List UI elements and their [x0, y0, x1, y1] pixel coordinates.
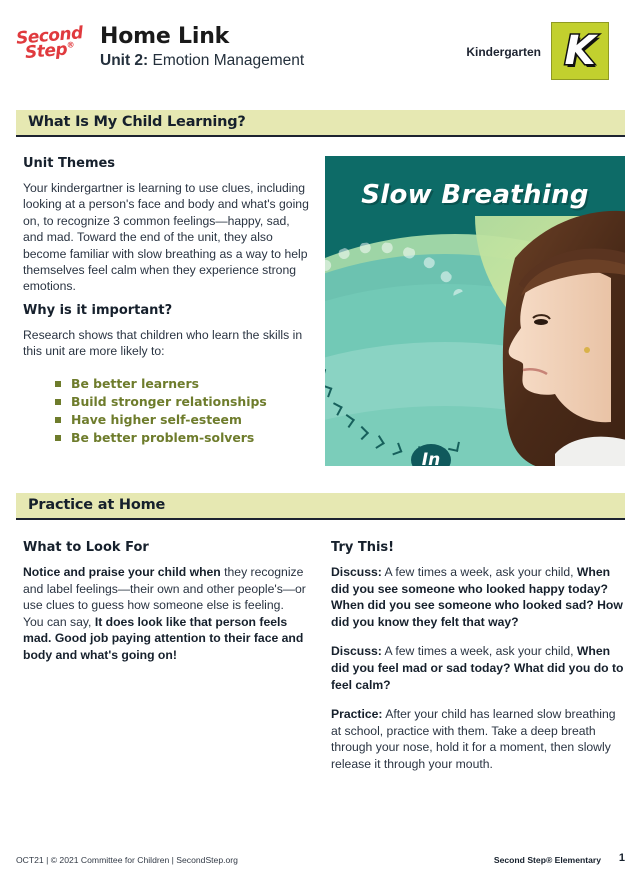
why-important-heading: Why is it important? — [23, 303, 313, 318]
unit-name: Emotion Management — [148, 52, 304, 69]
footer-page-number: 1 — [619, 852, 625, 864]
page-subtitle: Unit 2: Emotion Management — [100, 52, 304, 70]
list-item: Be better learners — [55, 375, 267, 393]
logo-word-step: Step® — [24, 39, 75, 63]
chevron-in-icon — [448, 440, 460, 452]
grade-badge-letter: K — [552, 28, 608, 74]
page-header: Second Step® Home Link Unit 2: Emotion M… — [0, 0, 641, 100]
item-label: Practice: — [331, 707, 383, 721]
unit-themes-body: Your kindergartner is learning to use cl… — [23, 180, 313, 295]
what-to-look-for-heading: What to Look For — [23, 540, 307, 555]
look-for-bold-lead: Notice and praise your child when — [23, 565, 221, 579]
list-item: Be better problem-solvers — [55, 429, 267, 447]
item-label: Discuss: — [331, 644, 382, 658]
unit-themes-block: Unit Themes Your kindergartner is learni… — [23, 156, 313, 295]
item-label: Discuss: — [331, 565, 382, 579]
second-step-logo: Second Step® — [16, 26, 82, 66]
grade-label: Kindergarten — [466, 45, 541, 59]
list-item: Have higher self-esteem — [55, 411, 267, 429]
grade-badge: K — [551, 22, 609, 80]
slow-breathing-illustration: Slow Breathing In Out — [325, 156, 625, 466]
try-this-heading: Try This! — [331, 540, 627, 555]
footer-copyright: OCT21 | © 2021 Committee for Children | … — [16, 855, 238, 865]
unit-themes-heading: Unit Themes — [23, 156, 313, 171]
list-item: Build stronger relationships — [55, 393, 267, 411]
item-plain: A few times a week, ask your child, — [382, 644, 577, 658]
try-this-item: Practice: After your child has learned s… — [331, 706, 627, 772]
item-plain: A few times a week, ask your child, — [382, 565, 577, 579]
section-header-practice-label: Practice at Home — [28, 497, 165, 513]
logo-registered-mark: ® — [66, 40, 74, 50]
section-header-learning-label: What Is My Child Learning? — [28, 114, 246, 130]
benefits-list: Be better learners Build stronger relati… — [55, 375, 267, 447]
page-title: Home Link — [100, 24, 229, 49]
child-photo — [463, 192, 625, 466]
try-this-block: Try This! Discuss: A few times a week, a… — [331, 540, 627, 773]
try-this-item: Discuss: A few times a week, ask your ch… — [331, 564, 627, 630]
section-header-learning: What Is My Child Learning? — [16, 110, 625, 137]
footer-product-name: Second Step® Elementary — [494, 855, 601, 865]
illustration-title: Slow Breathing — [325, 180, 625, 210]
unit-number: Unit 2: — [100, 52, 148, 69]
why-important-block: Why is it important? Research shows that… — [23, 303, 313, 360]
what-to-look-for-body: Notice and praise your child when they r… — [23, 564, 307, 664]
what-to-look-for-block: What to Look For Notice and praise your … — [23, 540, 307, 664]
try-this-item: Discuss: A few times a week, ask your ch… — [331, 643, 627, 693]
why-important-body: Research shows that children who learn t… — [23, 327, 313, 360]
section-header-practice: Practice at Home — [16, 493, 625, 520]
